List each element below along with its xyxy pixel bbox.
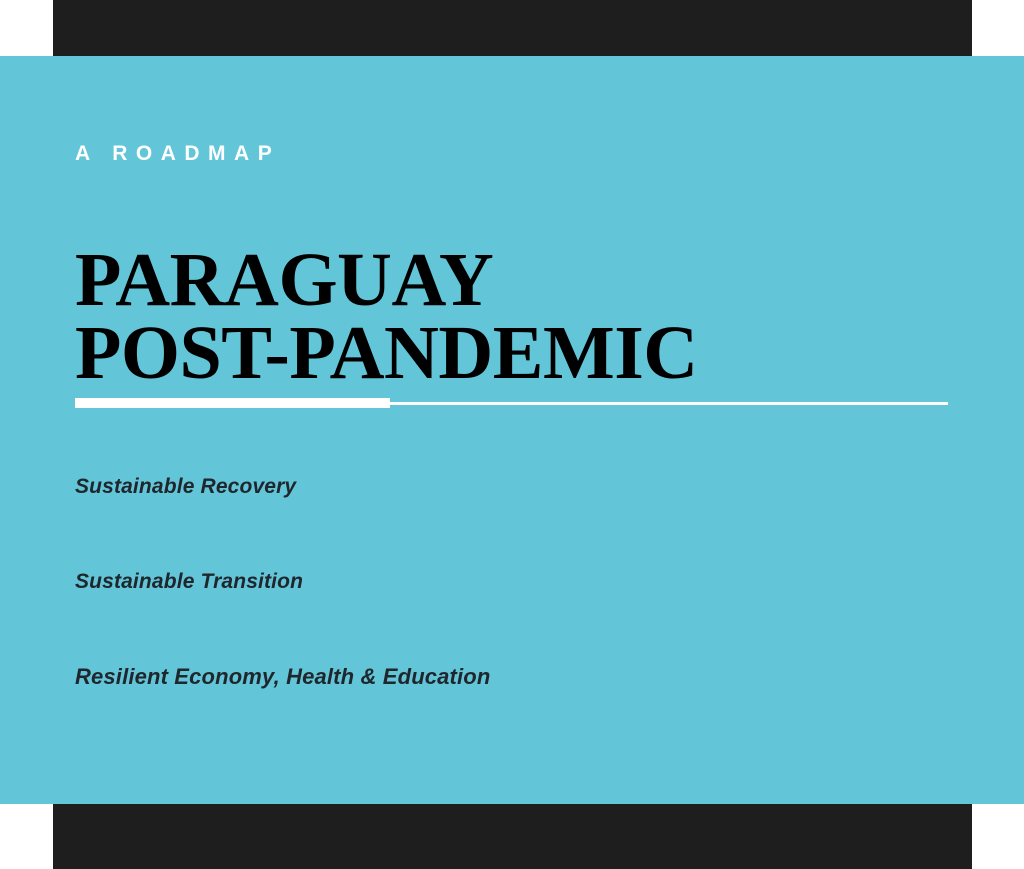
frame-band-top [53,0,972,56]
list-item: Sustainable Recovery [75,476,775,571]
presentation-slide: A ROADMAP PARAGUAY POST-PANDEMIC Sustain… [0,0,1024,869]
title-line-2: POST-PANDEMIC [75,317,698,390]
page-title: PARAGUAY POST-PANDEMIC [75,244,698,390]
eyebrow-label: A ROADMAP [75,143,280,164]
list-item: Resilient Economy, Health & Education [75,666,775,761]
content-column: A ROADMAP PARAGUAY POST-PANDEMIC Sustain… [75,56,1024,804]
content-panel: A ROADMAP PARAGUAY POST-PANDEMIC Sustain… [0,56,1024,804]
title-divider [75,398,948,408]
topic-list: Sustainable Recovery Sustainable Transit… [75,476,775,761]
list-item: Sustainable Transition [75,571,775,666]
title-line-1: PARAGUAY [75,244,698,317]
divider-thick-rule [75,398,390,408]
frame-band-bottom [53,804,972,869]
